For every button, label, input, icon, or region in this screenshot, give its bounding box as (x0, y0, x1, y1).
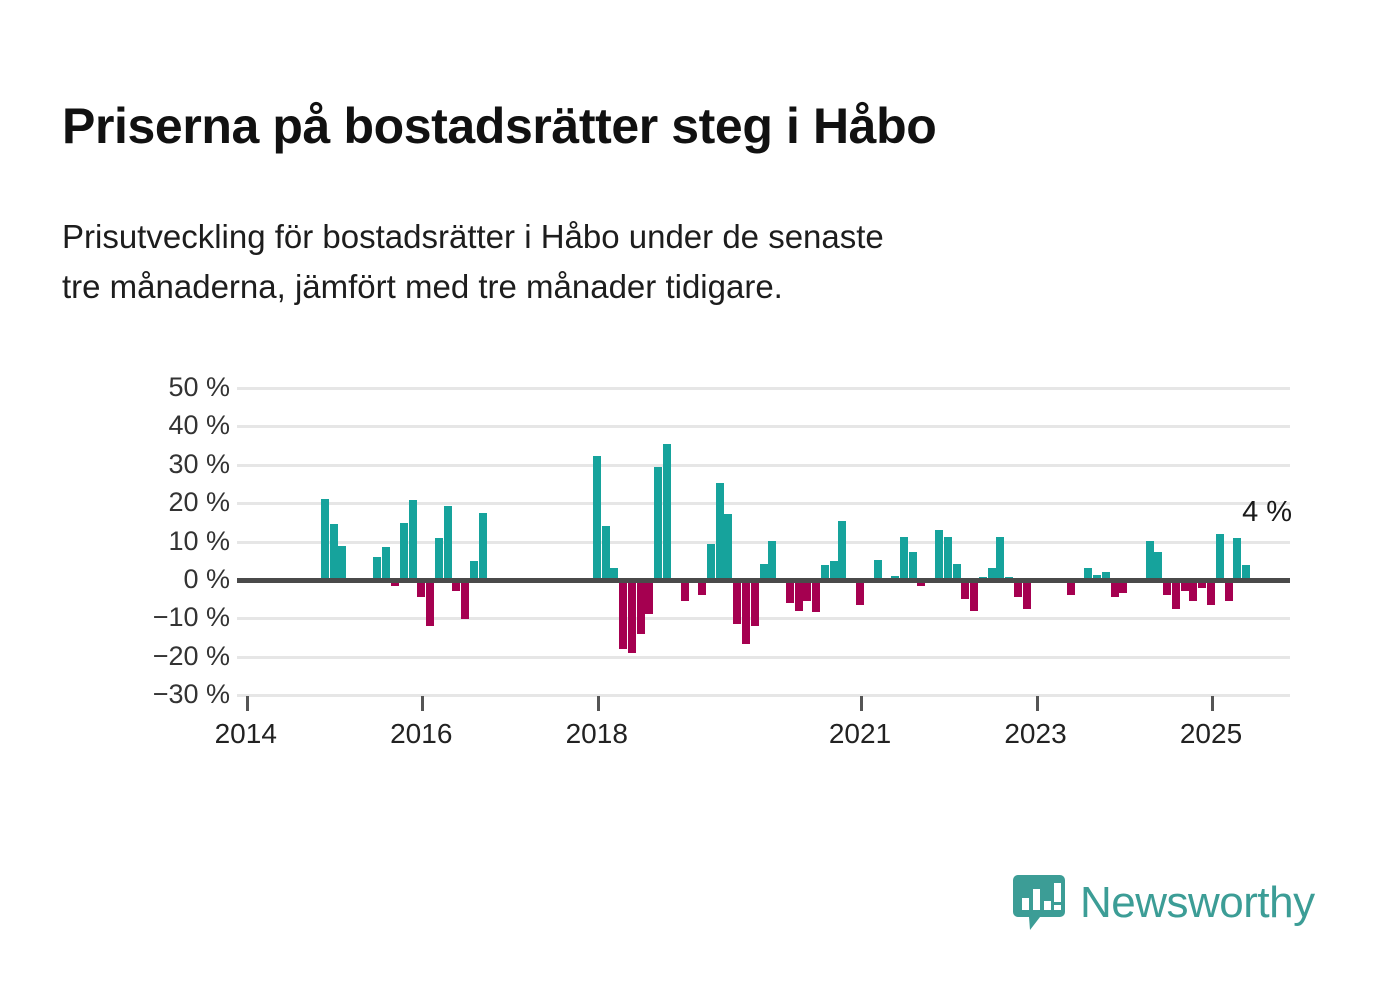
bar (672, 578, 680, 580)
bar (760, 564, 768, 580)
bar (1005, 577, 1013, 580)
bar (452, 580, 460, 592)
y-axis-tick-label: −10 % (80, 604, 230, 631)
bar (1128, 578, 1136, 580)
x-axis-tick (1211, 696, 1214, 711)
bar (1146, 541, 1154, 580)
x-axis-tick-label: 2016 (361, 718, 481, 750)
bar (768, 541, 776, 580)
bar (1154, 552, 1162, 580)
bar (926, 578, 934, 580)
logo-wordmark: Newsworthy (1080, 881, 1315, 925)
x-axis-tick-label: 2023 (976, 718, 1096, 750)
y-axis-tick-label: 50 % (80, 374, 230, 401)
bar (874, 560, 882, 580)
x-axis-tick-label: 2021 (800, 718, 920, 750)
bar (698, 580, 706, 595)
bar (330, 524, 338, 580)
bar (566, 578, 574, 580)
bar (1207, 580, 1215, 605)
bar (847, 580, 855, 582)
x-axis-tick (246, 696, 249, 711)
bar (312, 578, 320, 580)
bar (909, 552, 917, 580)
bar (821, 565, 829, 580)
bar (935, 530, 943, 580)
bar (400, 523, 408, 580)
bar (1093, 575, 1101, 580)
zero-axis-line (237, 578, 1290, 583)
x-axis-tick-label: 2018 (537, 718, 657, 750)
gridline (237, 464, 1290, 467)
bar-chart-speech-bubble-icon (1012, 874, 1066, 932)
bar (426, 580, 434, 626)
x-axis-tick (421, 696, 424, 711)
y-axis-tick-label: 10 % (80, 528, 230, 555)
bar (435, 538, 443, 580)
y-axis-tick-label: 0 % (80, 566, 230, 593)
y-axis-tick-label: −20 % (80, 643, 230, 670)
bar-series (237, 388, 1290, 695)
bar (619, 580, 627, 649)
bar (689, 578, 697, 580)
bar (637, 580, 645, 634)
bar (628, 580, 636, 653)
bar (356, 578, 364, 580)
page-title: Priserna på bostadsrätter steg i Håbo (62, 97, 1322, 155)
gridline (237, 425, 1290, 428)
last-value-annotation: 4 % (1242, 496, 1292, 529)
bar (681, 580, 689, 601)
bar (988, 568, 996, 580)
bar (795, 580, 803, 611)
bar (1216, 534, 1224, 580)
bar (961, 580, 969, 599)
bar (917, 580, 925, 586)
bar (470, 561, 478, 579)
bar (1189, 580, 1197, 601)
plot-area (237, 388, 1290, 695)
bar (865, 578, 873, 580)
y-axis-tick-label: −30 % (80, 681, 230, 708)
bar (610, 568, 618, 580)
bar (1023, 580, 1031, 609)
bar (479, 513, 487, 579)
bar (1102, 572, 1110, 580)
infographic-page: Priserna på bostadsrätter steg i Håbo Pr… (0, 0, 1382, 999)
page-subtitle: Prisutveckling för bostadsrätter i Håbo … (62, 212, 1302, 312)
bar (338, 546, 346, 580)
y-axis-tick-label: 20 % (80, 489, 230, 516)
bar (1032, 580, 1040, 582)
y-axis-tick-label: 40 % (80, 412, 230, 439)
bar (303, 578, 311, 580)
subtitle-line-2: tre månaderna, jämfört med tre månader t… (62, 262, 1302, 312)
bar (979, 577, 987, 580)
bar (996, 537, 1004, 580)
bar (663, 444, 671, 579)
bar (724, 514, 732, 580)
bar (803, 580, 811, 601)
bar (1163, 580, 1171, 595)
x-axis-tick (597, 696, 600, 711)
bar (812, 580, 820, 613)
bar (900, 537, 908, 580)
bar (417, 580, 425, 597)
gridline (237, 387, 1290, 390)
bar (409, 500, 417, 579)
bar (1111, 580, 1119, 597)
bar (1225, 580, 1233, 601)
bar (733, 580, 741, 624)
bar (321, 499, 329, 580)
bar (777, 578, 785, 580)
bar (953, 564, 961, 580)
bar (391, 580, 399, 586)
bar (970, 580, 978, 611)
bar (716, 483, 724, 580)
newsworthy-logo: Newsworthy (1012, 872, 1315, 934)
bar (944, 537, 952, 580)
bar (1014, 580, 1022, 597)
bar (1075, 578, 1083, 580)
bar (1198, 580, 1206, 588)
gridline (237, 694, 1290, 697)
bar (1233, 538, 1241, 580)
bar (856, 580, 864, 605)
bar (347, 578, 355, 580)
gridline (237, 617, 1290, 620)
y-axis-tick-label: 30 % (80, 451, 230, 478)
bar (558, 578, 566, 580)
subtitle-line-1: Prisutveckling för bostadsrätter i Håbo … (62, 212, 1302, 262)
bar (645, 580, 653, 615)
bar (1084, 568, 1092, 580)
bar (1181, 580, 1189, 592)
bar (602, 526, 610, 580)
x-axis-tick (1036, 696, 1039, 711)
gridline (237, 656, 1290, 659)
gridline (237, 502, 1290, 505)
bar (487, 578, 495, 580)
bar (751, 580, 759, 626)
bar (373, 557, 381, 580)
x-axis-tick-label: 2025 (1151, 718, 1271, 750)
bar (461, 580, 469, 619)
x-axis-tick (860, 696, 863, 711)
bar (830, 561, 838, 579)
x-axis-tick-label: 2014 (186, 718, 306, 750)
bar (882, 578, 890, 580)
bar (382, 547, 390, 580)
gridline (237, 541, 1290, 544)
bar (654, 467, 662, 579)
bar (891, 576, 899, 580)
bar (1119, 580, 1127, 593)
bar (1242, 565, 1250, 580)
bar (593, 456, 601, 580)
bar (707, 544, 715, 580)
bar (786, 580, 794, 603)
bar (742, 580, 750, 644)
bar (444, 506, 452, 580)
bar (838, 521, 846, 580)
bar (365, 578, 373, 580)
bar (1172, 580, 1180, 609)
bar (1067, 580, 1075, 595)
